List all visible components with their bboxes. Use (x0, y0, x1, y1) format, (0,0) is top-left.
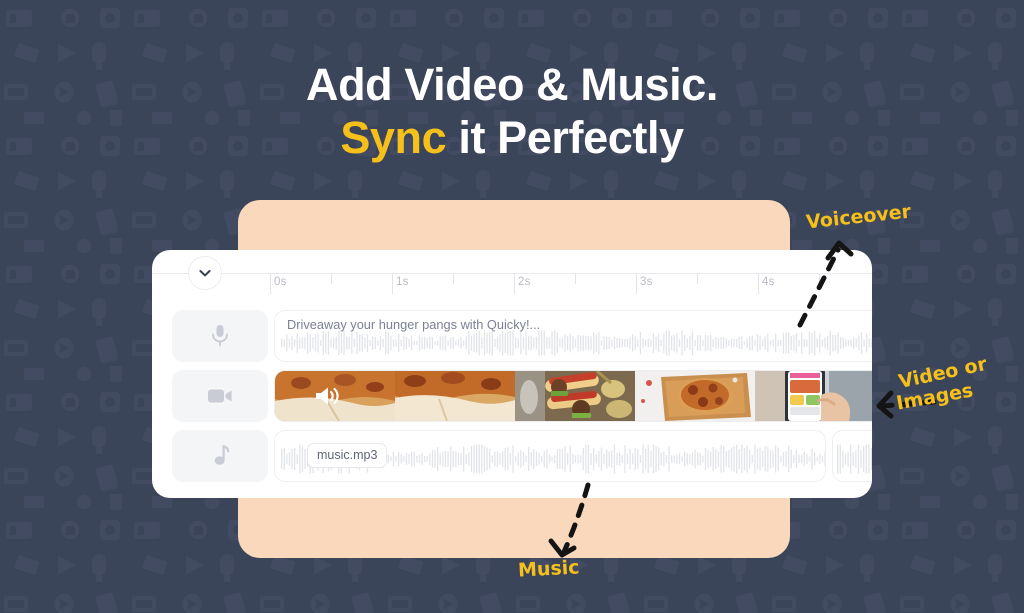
video-clip-strip[interactable] (274, 370, 872, 422)
track-music[interactable]: music.mp3 (152, 430, 872, 482)
timeline-editor-panel: 0s1s2s3s4s Driveaway your hunger pangs w… (152, 250, 872, 498)
thumbnail-pizza-closeup[interactable] (395, 371, 515, 421)
timeline-ruler[interactable]: 0s1s2s3s4s (152, 250, 872, 296)
ruler-tick-major (392, 274, 393, 294)
speaker-icon (313, 384, 339, 408)
video-camera-icon (207, 386, 233, 406)
ruler-tick-minor (575, 274, 576, 284)
track-header-video[interactable] (172, 370, 268, 422)
headline-line-2: Sync it Perfectly (0, 111, 1024, 164)
ruler-tick-label: 3s (640, 276, 653, 288)
music-file-label[interactable]: music.mp3 (307, 443, 387, 468)
track-header-voiceover[interactable] (172, 310, 268, 362)
microphone-icon (209, 323, 231, 349)
ruler-tick-major (514, 274, 515, 294)
ruler-tick-major (636, 274, 637, 294)
music-waveform-secondary (837, 444, 872, 470)
ruler-tick-minor (819, 274, 820, 284)
ruler-tick-major (270, 274, 271, 294)
headline-line-1: Add Video & Music. (0, 58, 1024, 111)
ruler-tick-label: 4s (762, 276, 775, 288)
music-clip-primary[interactable]: music.mp3 (274, 430, 826, 482)
annotation-label-music: Music (517, 556, 580, 581)
voiceover-clip[interactable]: Driveaway your hunger pangs with Quicky!… (274, 310, 872, 362)
ruler-tick-minor (453, 274, 454, 284)
music-note-icon (210, 444, 230, 468)
thumbnail-pizza-box[interactable] (635, 371, 755, 421)
thumbnail-hotdogs-burgers[interactable] (515, 371, 635, 421)
headline-accent-word: Sync (340, 112, 446, 163)
ruler-tick-label: 1s (396, 276, 409, 288)
collapse-tracks-button[interactable] (188, 256, 222, 290)
track-voiceover[interactable]: Driveaway your hunger pangs with Quicky!… (152, 310, 872, 362)
music-clip-secondary[interactable] (832, 430, 872, 482)
ruler-baseline (152, 273, 872, 274)
ruler-tick-minor (697, 274, 698, 284)
page-headline: Add Video & Music. Sync it Perfectly (0, 58, 1024, 164)
voiceover-waveform (281, 330, 872, 356)
track-video[interactable] (152, 370, 872, 422)
thumbnail-pizza-slice[interactable] (275, 371, 395, 421)
chevron-down-icon (197, 265, 213, 281)
track-header-music[interactable] (172, 430, 268, 482)
ruler-tick-major (758, 274, 759, 294)
ruler-tick-minor (331, 274, 332, 284)
ruler-tick-label: 0s (274, 276, 287, 288)
ruler-tick-label: 2s (518, 276, 531, 288)
headline-line-2-rest: it Perfectly (446, 112, 683, 163)
thumbnail-phone-in-hand[interactable] (755, 371, 872, 421)
